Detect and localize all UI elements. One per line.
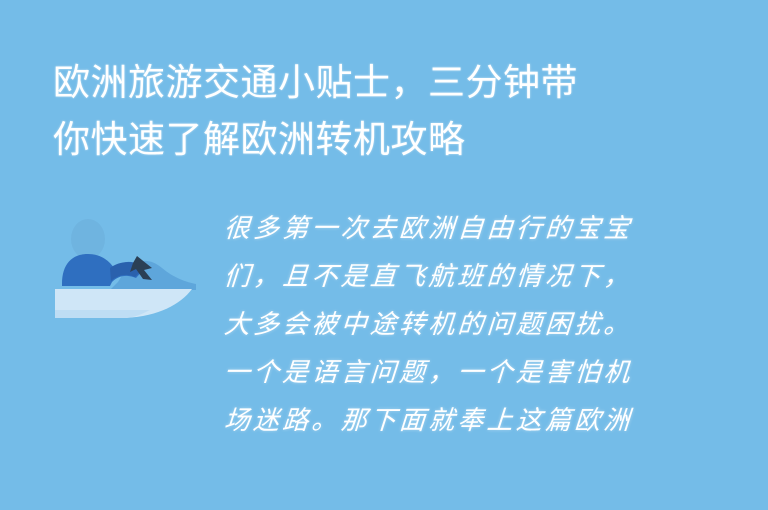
body-line-4: 一个是语言问题，一个是害怕机 <box>222 349 655 397</box>
title-line-2: 你快速了解欧洲转机攻略 <box>53 111 713 168</box>
body-line-2: 们，且不是直飞航班的情况下， <box>222 253 655 301</box>
person-in-boat-illustration <box>40 206 210 330</box>
person-head <box>71 219 105 259</box>
article-body: 很多第一次去欧洲自由行的宝宝 们，且不是直飞航班的情况下， 大多会被中途转机的问… <box>224 205 654 445</box>
body-line-5: 场迷路。那下面就奉上这篇欧洲 <box>222 397 655 445</box>
page-title: 欧洲旅游交通小贴士，三分钟带 你快速了解欧洲转机攻略 <box>53 54 713 168</box>
article-page: 欧洲旅游交通小贴士，三分钟带 你快速了解欧洲转机攻略 很多第一次去欧洲自由行的宝… <box>0 0 768 510</box>
body-line-3: 大多会被中途转机的问题困扰。 <box>222 301 655 349</box>
body-line-1: 很多第一次去欧洲自由行的宝宝 <box>222 205 655 253</box>
title-line-1: 欧洲旅游交通小贴士，三分钟带 <box>53 54 713 111</box>
